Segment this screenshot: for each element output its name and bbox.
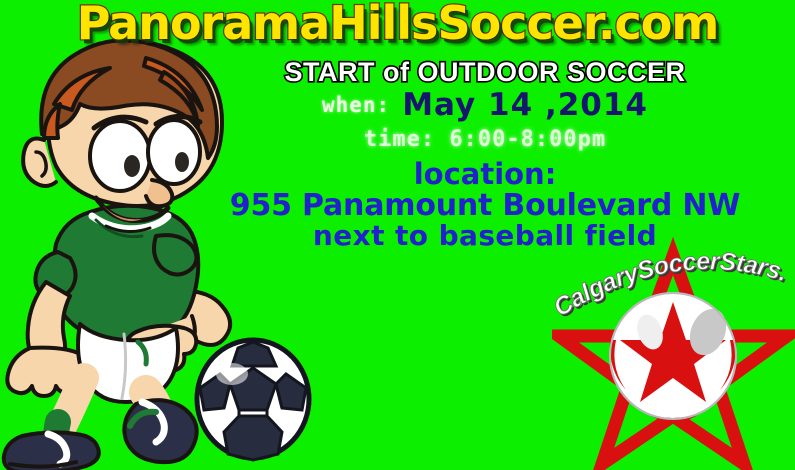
soccer-ball [192, 336, 314, 462]
event-headline: START of OUTDOOR SOCCER [225, 58, 745, 86]
page-title: PanoramaHillsSoccer.com [0, 0, 795, 50]
calgary-soccer-stars-logo[interactable]: CalgarySoccerStars.com CalgarySoccerStar… [552, 228, 795, 470]
location-address: 955 Panamount Boulevard NW [225, 191, 745, 222]
event-details-block: START of OUTDOOR SOCCER when:May 14 ,201… [225, 58, 745, 250]
location-note: next to baseball field [225, 222, 745, 251]
poster-canvas: PanoramaHillsSoccer.com START of OUTDOOR… [0, 0, 795, 470]
when-label: when: [322, 93, 390, 117]
location-label: location: [225, 160, 745, 190]
when-row: when:May 14 ,2014 [225, 90, 745, 121]
time-row: time: 6:00-8:00pm [225, 129, 745, 151]
when-value: May 14 ,2014 [402, 87, 648, 123]
